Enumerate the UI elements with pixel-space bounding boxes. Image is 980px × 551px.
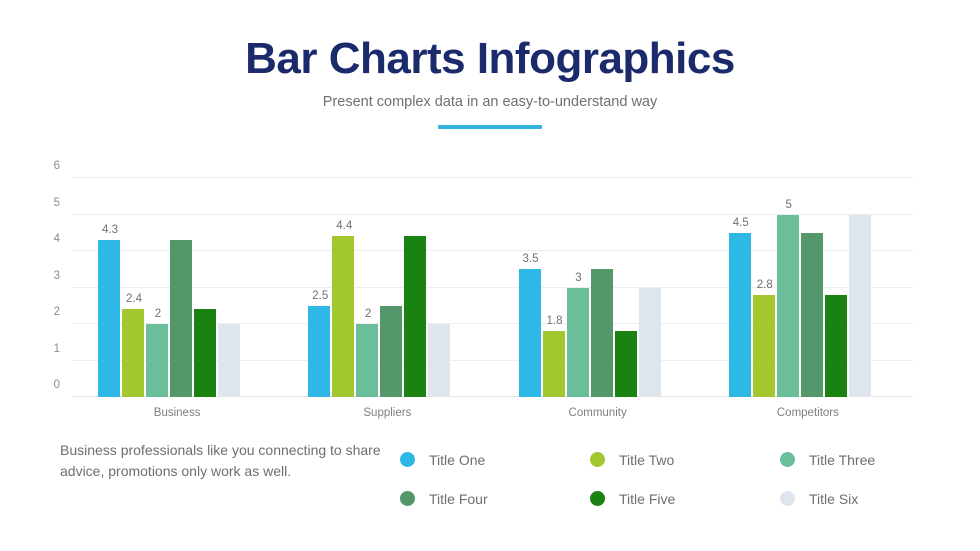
footer: Business professionals like you connecti… — [0, 440, 980, 530]
bar-slot: 2.4 — [122, 178, 146, 397]
bar-slot: 2.5 — [308, 178, 332, 397]
header: Bar Charts Infographics Present complex … — [0, 0, 980, 129]
bar-slot: 1.8 — [543, 178, 567, 397]
chart-legend: Title OneTitle TwoTitle ThreeTitle FourT… — [400, 440, 980, 518]
bar-value-label: 2.4 — [126, 293, 142, 305]
bar[interactable] — [639, 288, 661, 398]
bar-slot — [591, 178, 615, 397]
bar-value-label: 2 — [155, 308, 161, 320]
legend-color-dot-icon — [400, 491, 415, 506]
bar-value-label: 3 — [575, 272, 581, 284]
y-axis-tick-label: 2 — [54, 306, 60, 318]
legend-item-label: Title Three — [809, 452, 875, 468]
bar[interactable] — [801, 233, 823, 397]
bar-slot — [428, 178, 452, 397]
legend-color-dot-icon — [590, 452, 605, 467]
bar-slot: 4.5 — [729, 178, 753, 397]
bar[interactable] — [849, 215, 871, 398]
bar[interactable] — [777, 215, 799, 398]
title-underline-accent — [438, 125, 542, 129]
bar[interactable] — [543, 331, 565, 397]
bar[interactable] — [356, 324, 378, 397]
y-axis-tick-label: 3 — [54, 270, 60, 282]
bar[interactable] — [146, 324, 168, 397]
bar-value-label: 2 — [365, 308, 371, 320]
bar-slot: 2 — [146, 178, 170, 397]
legend-item-label: Title Two — [619, 452, 674, 468]
bar-value-label: 5 — [786, 199, 792, 211]
bar[interactable] — [428, 324, 450, 397]
bar[interactable] — [332, 236, 354, 397]
bar-value-label: 2.8 — [757, 279, 773, 291]
legend-color-dot-icon — [780, 491, 795, 506]
bar-group-bars: 2.54.42 — [282, 178, 492, 397]
bar-slot — [639, 178, 663, 397]
bar[interactable] — [308, 306, 330, 397]
bar-slot — [404, 178, 428, 397]
y-axis-tick-label: 5 — [54, 197, 60, 209]
bar-slot: 2.8 — [753, 178, 777, 397]
bar-slot — [825, 178, 849, 397]
bar-slot — [170, 178, 194, 397]
legend-item[interactable]: Title Five — [590, 491, 780, 507]
bar-value-label: 4.5 — [733, 217, 749, 229]
bar-slot — [849, 178, 873, 397]
bar-group: 2.54.42Suppliers — [282, 178, 492, 397]
bar-slot — [615, 178, 639, 397]
page-title: Bar Charts Infographics — [0, 36, 980, 82]
bar[interactable] — [218, 324, 240, 397]
chart-plot-area: 0123456 4.32.42Business2.54.42Suppliers3… — [72, 178, 913, 397]
bar[interactable] — [567, 288, 589, 398]
bar-group-bars: 4.52.85 — [703, 178, 913, 397]
bar-slot — [194, 178, 218, 397]
legend-item[interactable]: Title One — [400, 452, 590, 468]
bar-slot: 4.3 — [98, 178, 122, 397]
legend-item-label: Title Six — [809, 491, 858, 507]
legend-item[interactable]: Title Two — [590, 452, 780, 468]
legend-item-label: Title Four — [429, 491, 488, 507]
bar-value-label: 3.5 — [523, 253, 539, 265]
bar[interactable] — [519, 269, 541, 397]
bar[interactable] — [194, 309, 216, 397]
bar-value-label: 4.3 — [102, 224, 118, 236]
x-axis-category-label: Suppliers — [282, 407, 492, 419]
x-axis-category-label: Competitors — [703, 407, 913, 419]
bar-slot — [380, 178, 404, 397]
legend-item[interactable]: Title Three — [780, 452, 970, 468]
bar-slot: 4.4 — [332, 178, 356, 397]
bar[interactable] — [615, 331, 637, 397]
bar[interactable] — [122, 309, 144, 397]
x-axis-category-label: Community — [493, 407, 703, 419]
legend-color-dot-icon — [400, 452, 415, 467]
legend-item[interactable]: Title Six — [780, 491, 970, 507]
legend-item-label: Title One — [429, 452, 485, 468]
bar-value-label: 1.8 — [547, 315, 563, 327]
description-text: Business professionals like you connecti… — [60, 440, 390, 482]
bar-slot — [218, 178, 242, 397]
bar-group: 4.32.42Business — [72, 178, 282, 397]
bar-slot: 3 — [567, 178, 591, 397]
legend-item-label: Title Five — [619, 491, 675, 507]
x-axis-category-label: Business — [72, 407, 282, 419]
bar[interactable] — [98, 240, 120, 397]
bar-group-bars: 4.32.42 — [72, 178, 282, 397]
legend-color-dot-icon — [590, 491, 605, 506]
bar-slot: 5 — [777, 178, 801, 397]
bar[interactable] — [729, 233, 751, 397]
bar-slot: 2 — [356, 178, 380, 397]
y-axis-tick-label: 6 — [54, 160, 60, 172]
bar-slot — [801, 178, 825, 397]
bar[interactable] — [591, 269, 613, 397]
bar[interactable] — [753, 295, 775, 397]
page-subtitle: Present complex data in an easy-to-under… — [0, 94, 980, 111]
bar-group: 4.52.85Competitors — [703, 178, 913, 397]
bar[interactable] — [170, 240, 192, 397]
y-axis-tick-label: 4 — [54, 233, 60, 245]
legend-color-dot-icon — [780, 452, 795, 467]
bar-value-label: 2.5 — [312, 290, 328, 302]
y-axis-tick-label: 0 — [54, 379, 60, 391]
bar-group: 3.51.83Community — [493, 178, 703, 397]
bar[interactable] — [825, 295, 847, 397]
legend-item[interactable]: Title Four — [400, 491, 590, 507]
y-axis-tick-label: 1 — [54, 343, 60, 355]
chart-bar-groups: 4.32.42Business2.54.42Suppliers3.51.83Co… — [72, 178, 913, 397]
bar-group-bars: 3.51.83 — [493, 178, 703, 397]
bar[interactable] — [380, 306, 402, 397]
bar-slot: 3.5 — [519, 178, 543, 397]
bar[interactable] — [404, 236, 426, 397]
bar-chart: 0123456 4.32.42Business2.54.42Suppliers3… — [0, 165, 980, 420]
bar-value-label: 4.4 — [336, 220, 352, 232]
